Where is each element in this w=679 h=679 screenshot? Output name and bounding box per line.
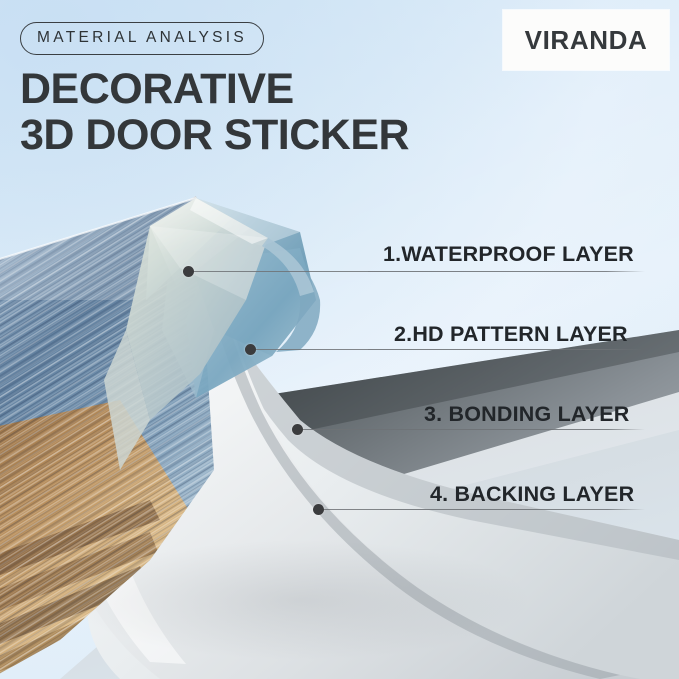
brand-name: VIRANDA: [525, 27, 648, 53]
page-title-line-2: 3D DOOR STICKER: [20, 112, 409, 158]
callout-rule-2: [368, 349, 645, 350]
material-analysis-badge: MATERIAL ANALYSIS: [20, 22, 264, 55]
callout-dot-3: [292, 424, 303, 435]
brand-logo-box: VIRANDA: [503, 10, 669, 70]
callout-leader-3: [303, 429, 380, 430]
callout-rule-4: [380, 509, 645, 510]
callout-dot-1: [183, 266, 194, 277]
callout-dot-2: [245, 344, 256, 355]
callout-label-3: 3. BONDING LAYER: [424, 404, 630, 426]
callout-dot-4: [313, 504, 324, 515]
callout-label-2: 2.HD PATTERN LAYER: [394, 324, 628, 346]
callout-rule-1: [368, 271, 645, 272]
callout-leader-2: [256, 349, 368, 350]
page-title-line-1: DECORATIVE: [20, 65, 294, 113]
callout-leader-1: [194, 271, 368, 272]
callout-rule-3: [380, 429, 645, 430]
poster-canvas: MATERIAL ANALYSIS DECORATIVE 3D DOOR STI…: [0, 0, 679, 679]
page-title: DECORATIVE 3D DOOR STICKER: [20, 66, 409, 158]
callout-label-1: 1.WATERPROOF LAYER: [383, 244, 634, 266]
callout-leader-4: [324, 509, 380, 510]
callout-label-4: 4. BACKING LAYER: [430, 484, 634, 506]
